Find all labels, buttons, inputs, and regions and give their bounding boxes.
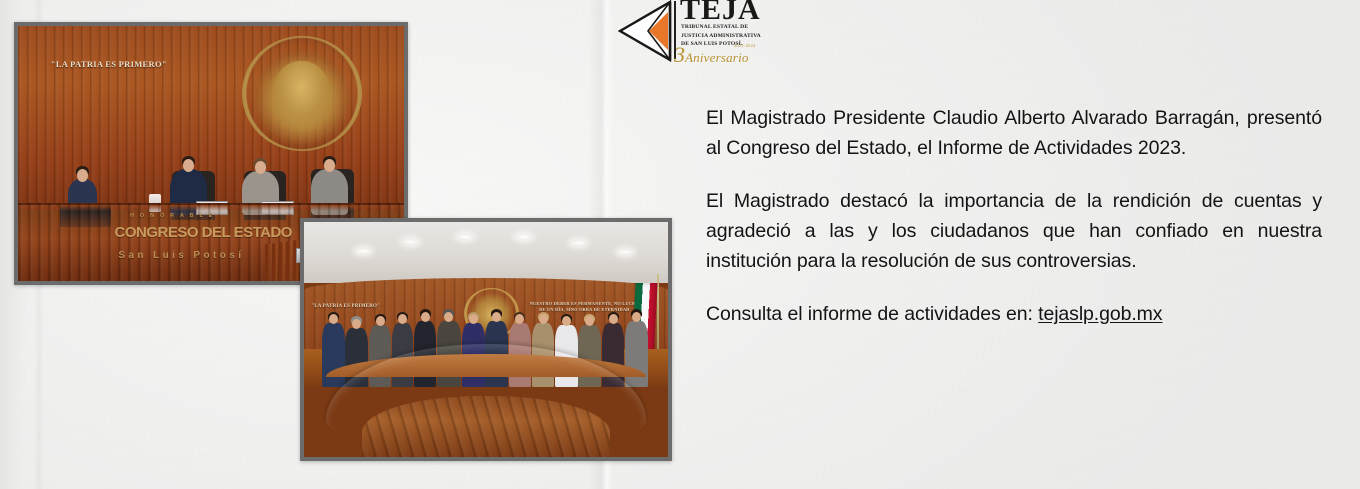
mexican-eagle-emblem-icon [242,36,362,151]
ceiling-light [457,234,474,240]
person-head [632,312,641,322]
photo-group-chamber[interactable]: "LA PATRIA ES PRIMERO" NUESTRO DEBER ES … [300,218,672,461]
logo-subtitle-line-2: JUSTICIA ADMINISTRATIVA [681,32,777,41]
person-head [324,159,335,172]
podium-label-slp: San Luis Potosí [118,250,244,261]
logo-anniversary-dates: 2021-2024 [734,43,756,48]
logo-anniversary-number: 3 [674,42,685,67]
teja-arrow-mark-icon [618,0,674,62]
ceiling-light [570,240,587,246]
photo-group-content: "LA PATRIA ES PRIMERO" NUESTRO DEBER ES … [304,222,668,457]
person-head [398,314,407,324]
person-head [515,314,524,324]
paragraph-2: El Magistrado destacó la importancia de … [706,187,1322,276]
wall-motto-patria: "LA PATRIA ES PRIMERO" [51,59,167,69]
person-head [352,319,361,329]
poster-canvas: "LA PATRIA ES PRIMERO" [0,0,1360,489]
person-head [376,316,385,326]
person-head [421,312,430,322]
podium-label-honorable: H O N O R A B L E [130,213,215,219]
person-head [469,314,478,324]
ceiling-light [402,239,419,245]
logo-anniversary-word: Aniversario [685,50,749,65]
podium-label-congreso: CONGRESO DEL ESTADO [115,224,292,241]
person-head [585,316,594,326]
person-head [539,314,548,324]
wall-motto-patria: "LA PATRIA ES PRIMERO" [311,304,380,309]
logo-subtitle-line-1: TRIBUNAL ESTATAL DE [681,23,777,32]
chamber-floor [362,396,610,457]
person-head [609,314,618,324]
logo-wordmark: TEJA [680,0,761,25]
person-head [183,159,194,172]
paragraph-3-prefix: Consulta el informe de actividades en: [706,303,1038,325]
person-head [492,312,501,322]
person-head [255,161,266,174]
website-link[interactable]: tejaslp.gob.mx [1038,303,1162,325]
paragraph-1: El Magistrado Presidente Claudio Alberto… [706,104,1322,163]
paragraph-3: Consulta el informe de actividades en: t… [706,300,1322,330]
chamber-ceiling [304,222,668,283]
person-head [562,316,571,326]
wall-motto-deber-line1: NUESTRO DEBER ES PERMANENTE, NO LUCHA [530,301,639,306]
person-head [444,312,453,322]
ceiling-light [355,248,372,254]
ceiling-light [617,249,634,255]
teja-logo[interactable]: TEJA TRIBUNAL ESTATAL DE JUSTICIA ADMINI… [618,0,776,84]
announcement-text: El Magistrado Presidente Claudio Alberto… [706,104,1322,330]
ceiling-light [515,234,532,240]
person-head [77,169,88,182]
person-head [329,314,338,324]
